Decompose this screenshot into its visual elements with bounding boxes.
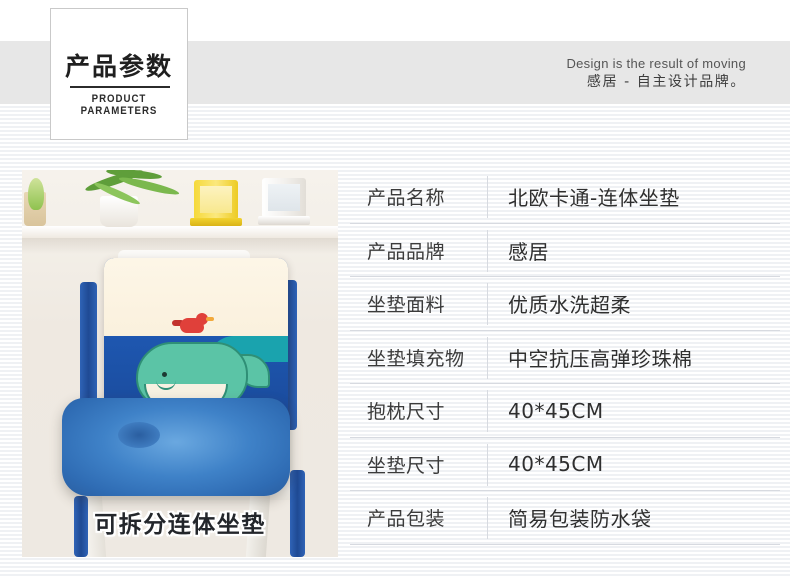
seat-cushion-tuft — [118, 422, 160, 448]
spec-value: 40*45CM — [487, 399, 604, 423]
spec-label: 坐垫填充物 — [344, 344, 487, 371]
column-divider — [487, 444, 488, 486]
brand-tagline: Design is the result of moving 感居 - 自主设计… — [566, 55, 746, 92]
table-row: 产品品牌 感居 — [344, 224, 790, 278]
spec-value: 40*45CM — [487, 452, 604, 476]
bird-beak-icon — [206, 317, 214, 321]
photo-caption: 可拆分连体坐垫 — [22, 505, 338, 539]
whale-eye-icon — [162, 372, 167, 377]
column-divider — [487, 390, 488, 432]
spec-table: 产品名称 北欧卡通-连体坐垫 产品品牌 感居 坐垫面料 优质水洗超柔 坐垫填充物… — [344, 170, 790, 545]
spec-label: 抱枕尺寸 — [344, 397, 487, 424]
seat-cushion — [62, 398, 290, 496]
spec-value: 简易包装防水袋 — [487, 503, 652, 532]
photo-shelf — [22, 226, 338, 238]
column-divider — [487, 230, 488, 272]
yellow-lantern-icon — [190, 174, 242, 227]
spec-label: 坐垫尺寸 — [344, 451, 487, 478]
table-row: 抱枕尺寸 40*45CM — [344, 384, 790, 438]
white-lantern-icon — [258, 172, 310, 227]
table-row: 坐垫面料 优质水洗超柔 — [344, 277, 790, 331]
table-row: 坐垫尺寸 40*45CM — [344, 438, 790, 492]
column-divider — [487, 497, 488, 539]
product-parameters-page: Design is the result of moving 感居 - 自主设计… — [0, 0, 790, 577]
spec-label: 产品名称 — [344, 183, 487, 210]
table-row: 产品包装 简易包装防水袋 — [344, 491, 790, 545]
column-divider — [487, 176, 488, 218]
spec-label: 产品品牌 — [344, 237, 487, 264]
table-row: 产品名称 北欧卡通-连体坐垫 — [344, 170, 790, 224]
table-row: 坐垫填充物 中空抗压高弹珍珠棉 — [344, 331, 790, 385]
tagline-chinese: 感居 - 自主设计品牌。 — [566, 72, 746, 92]
title-card: 产品参数 PRODUCT PARAMETERS — [50, 8, 188, 140]
spec-value: 优质水洗超柔 — [487, 289, 631, 318]
tagline-english: Design is the result of moving — [566, 55, 746, 72]
spec-value: 北欧卡通-连体坐垫 — [487, 182, 680, 211]
column-divider — [487, 337, 488, 379]
spec-value: 中空抗压高弹珍珠棉 — [487, 343, 693, 372]
product-photo: 可拆分连体坐垫 — [22, 170, 338, 557]
title-underline — [70, 86, 170, 88]
spec-label: 坐垫面料 — [344, 290, 487, 317]
spec-label: 产品包装 — [344, 504, 487, 531]
spec-value: 感居 — [487, 236, 549, 265]
page-title: 产品参数 — [51, 47, 187, 83]
column-divider — [487, 283, 488, 325]
plant-pot-left-icon — [24, 192, 46, 226]
product-photo-image: 可拆分连体坐垫 — [22, 170, 338, 557]
page-title-english: PRODUCT PARAMETERS — [59, 93, 179, 117]
plant-leaf-icon — [28, 178, 44, 210]
